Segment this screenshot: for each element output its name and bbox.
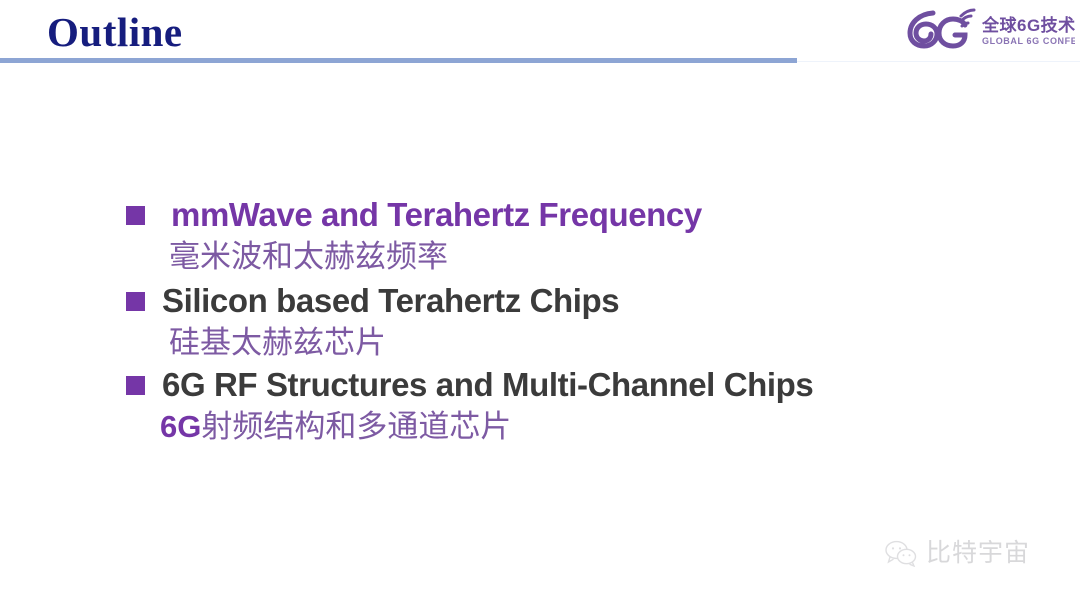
outline-item-2-heading: Silicon based Terahertz Chips: [162, 279, 619, 323]
outline-item-1-subtitle-text: 毫米波和太赫兹频率: [169, 239, 448, 274]
outline-item-2-heading-row: Silicon based Terahertz Chips: [126, 279, 1006, 323]
outline-item-1-heading: mmWave and Terahertz Frequency: [171, 193, 702, 237]
global-6g-conference-logo: 全球6G技术大会 GLOBAL 6G CONFERENCE: [903, 6, 1075, 50]
outline-item-3: 6G RF Structures and Multi-Channel Chips…: [126, 363, 1006, 447]
6g-mark-icon: [910, 10, 974, 46]
outline-item-3-heading: 6G RF Structures and Multi-Channel Chips: [162, 363, 813, 407]
square-bullet-icon: [126, 376, 145, 395]
title-underline-rule: [0, 58, 797, 63]
outline-item-3-subtitle: 6G射频结构和多通道芯片: [160, 407, 1006, 447]
slide-canvas: Outline 全球6G技术大会 GLOBAL 6G CONFERENCE: [0, 0, 1080, 608]
watermark-text: 比特宇宙: [926, 539, 1030, 567]
logo-english-name: GLOBAL 6G CONFERENCE: [982, 36, 1075, 46]
outline-bullet-list: mmWave and Terahertz Frequency 毫米波和太赫兹频率…: [126, 193, 1006, 447]
outline-item-1: mmWave and Terahertz Frequency 毫米波和太赫兹频率: [126, 193, 1006, 277]
square-bullet-icon: [126, 292, 145, 311]
outline-item-2-subtitle: 硅基太赫兹芯片: [169, 323, 1006, 363]
outline-item-1-subtitle: 毫米波和太赫兹频率: [169, 237, 1006, 277]
logo-chinese-name: 全球6G技术大会: [981, 15, 1075, 35]
wechat-bubbles-icon: [884, 539, 918, 567]
watermark: 比特宇宙: [884, 539, 1030, 567]
outline-item-2-subtitle-text: 硅基太赫兹芯片: [169, 325, 386, 360]
square-bullet-icon: [126, 206, 145, 225]
outline-item-1-heading-row: mmWave and Terahertz Frequency: [126, 193, 1006, 237]
page-title: Outline: [47, 9, 183, 55]
outline-item-2: Silicon based Terahertz Chips 硅基太赫兹芯片: [126, 279, 1006, 363]
outline-item-3-subtitle-text: 射频结构和多通道芯片: [201, 409, 511, 444]
title-underline-rule-tail: [797, 61, 1080, 62]
outline-item-3-subtitle-prefix: 6G: [160, 409, 201, 444]
outline-item-3-heading-row: 6G RF Structures and Multi-Channel Chips: [126, 363, 1006, 407]
